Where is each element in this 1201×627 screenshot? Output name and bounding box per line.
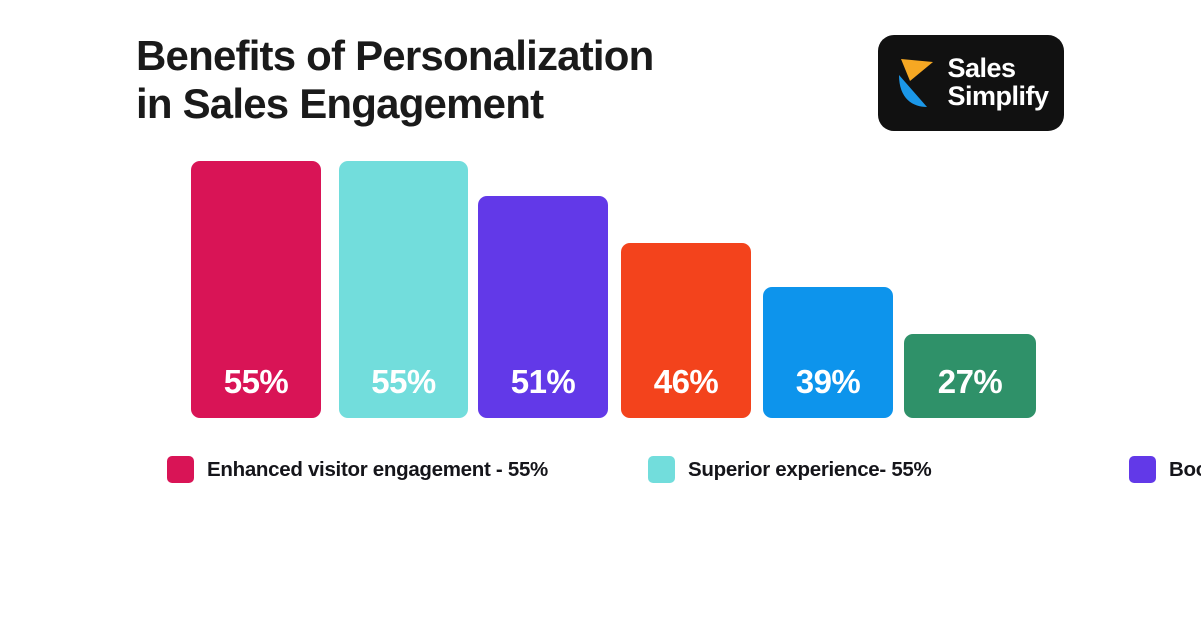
chart-bar: 27%: [904, 334, 1036, 418]
chart-legend: Enhanced visitor engagement - 55%Superio…: [167, 447, 1127, 492]
legend-item-label: Enhanced visitor engagement - 55%: [207, 458, 548, 482]
legend-color-swatch: [167, 456, 194, 483]
chart-bar: 55%: [339, 161, 468, 418]
legend-item: Boost in sales conversion- 51%: [1129, 447, 1201, 492]
chart-bar: 55%: [191, 161, 321, 418]
infographic-canvas: Benefits of Personalization in Sales Eng…: [0, 0, 1201, 627]
bar-chart: 55%55%51%46%39%27%: [0, 0, 1201, 627]
legend-item-label: Boost in sales conversion- 51%: [1169, 458, 1201, 482]
bar-value-label: 27%: [904, 363, 1036, 401]
bar-value-label: 46%: [621, 363, 751, 401]
legend-item: Superior experience- 55%: [648, 447, 1129, 492]
bar-value-label: 39%: [763, 363, 893, 401]
chart-bar: 51%: [478, 196, 608, 418]
legend-color-swatch: [1129, 456, 1156, 483]
chart-bar: 39%: [763, 287, 893, 418]
legend-item-label: Superior experience- 55%: [688, 458, 931, 482]
bar-value-label: 55%: [339, 363, 468, 401]
legend-color-swatch: [648, 456, 675, 483]
bar-value-label: 55%: [191, 363, 321, 401]
bar-value-label: 51%: [478, 363, 608, 401]
chart-bar: 46%: [621, 243, 751, 418]
legend-item: Enhanced visitor engagement - 55%: [167, 447, 648, 492]
